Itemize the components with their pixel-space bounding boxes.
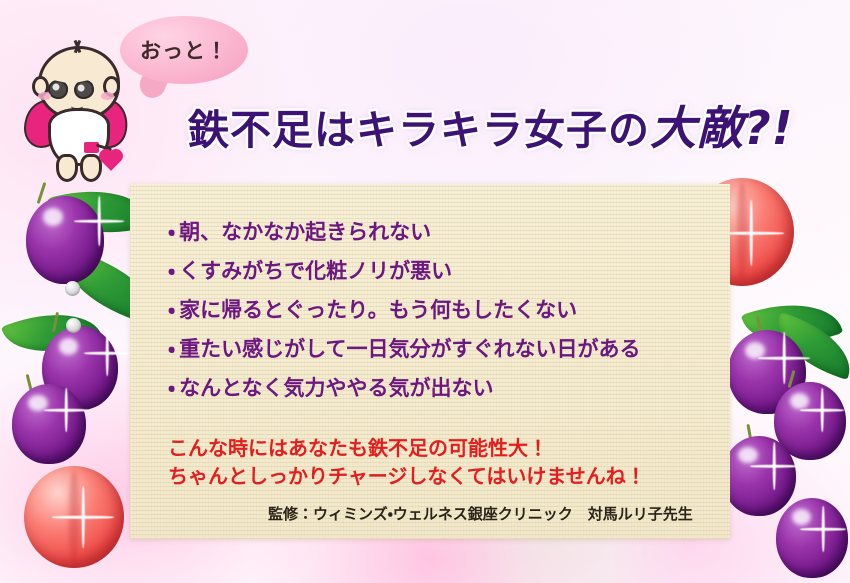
list-item-label: くすみがちで化粧ノリが悪い [179,259,452,283]
conclusion-line-1: こんな時にはあなたも鉄不足の可能性大！ [168,434,646,462]
list-item: ・なんとなく気力ややる気が出ない [168,378,728,399]
supervisor-credit: 監修：ウィミンズ・ウェルネス銀座クリニック 対馬ルリ子先生 [268,503,693,524]
list-item: ・家に帰るとぐったり。もう何もしたくない [168,300,728,321]
list-item-label: 朝、なかなか起きられない [179,220,431,244]
bullet-icon: ・ [168,376,175,400]
heart-icon [101,151,121,171]
list-item-label: 重たい感じがして一日気分がすぐれない日がある [179,337,640,361]
conclusion-line-2: ちゃんとしっかりチャージしなくてはいけませんね！ [168,462,646,490]
conclusion-block: こんな時にはあなたも鉄不足の可能性大！ ちゃんとしっかりチャージしなくてはいけま… [168,434,646,491]
speech-bubble: おっと！ [120,16,248,84]
baby-angel-mascot [22,42,130,180]
infographic-canvas: おっと！ 鉄不足はキラキラ女子の大敵?! ・朝、なかなか起きられない ・くすみが… [0,0,850,583]
peach-icon [24,466,124,568]
hair-tuft-icon [70,40,84,54]
blush-icon [101,92,114,100]
list-item-label: 家に帰るとぐったり。もう何もしたくない [179,298,577,322]
plum-icon [776,498,848,578]
bullet-icon: ・ [168,298,175,322]
leg-icon [56,154,78,182]
page-title: 鉄不足はキラキラ女子の大敵?! [188,92,794,158]
plum-icon [722,436,796,516]
page-title-main: 鉄不足はキラキラ女子の [188,106,650,154]
list-item: ・朝、なかなか起きられない [168,222,728,243]
list-item-label: なんとなく気力ややる気が出ない [179,376,493,400]
paper-hole [66,318,81,333]
list-item: ・くすみがちで化粧ノリが悪い [168,261,728,282]
blush-icon [38,92,51,100]
stem-icon [37,182,47,204]
speech-bubble-text: おっと！ [140,35,228,65]
plum-icon [26,196,104,284]
list-item: ・重たい感じがして一日気分がすぐれない日がある [168,339,728,360]
bullet-icon: ・ [168,259,175,283]
plum-icon [12,384,86,464]
symptom-list: ・朝、なかなか起きられない ・くすみがちで化粧ノリが悪い ・家に帰るとぐったり。… [168,222,728,417]
bullet-icon: ・ [168,220,175,244]
page-title-emphasis: 大敵?! [650,101,794,155]
bullet-icon: ・ [168,337,175,361]
paper-hole [65,281,80,296]
